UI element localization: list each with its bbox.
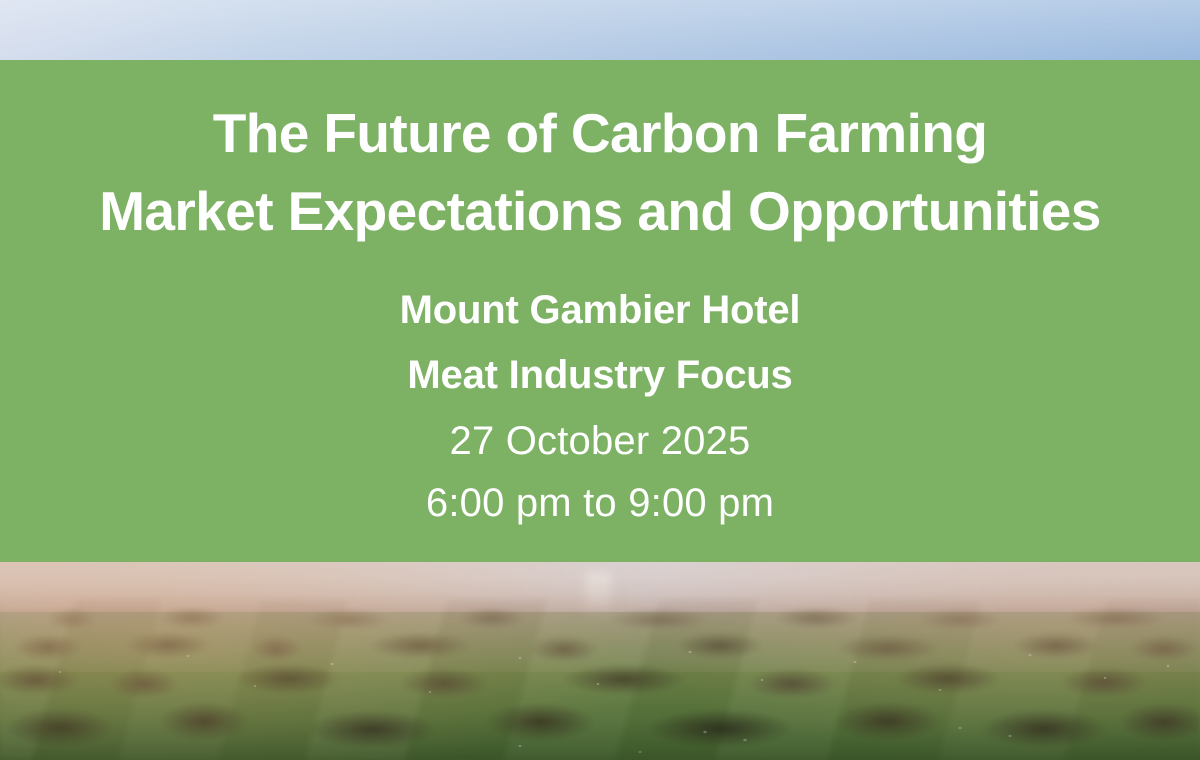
event-title-line-2: Market Expectations and Opportunities <box>0 172 1200 250</box>
event-schedule: 27 October 2025 6:00 pm to 9:00 pm <box>0 408 1200 534</box>
event-venue-name: Mount Gambier Hotel <box>0 278 1200 343</box>
event-title: The Future of Carbon Farming Market Expe… <box>0 94 1200 250</box>
event-banner: The Future of Carbon Farming Market Expe… <box>0 0 1200 760</box>
event-title-line-1: The Future of Carbon Farming <box>0 94 1200 172</box>
event-time: 6:00 pm to 9:00 pm <box>0 472 1200 534</box>
event-venue-focus: Meat Industry Focus <box>0 343 1200 408</box>
event-date: 27 October 2025 <box>0 410 1200 472</box>
event-venue: Mount Gambier Hotel Meat Industry Focus <box>0 250 1200 408</box>
foreground-pasture-region <box>0 672 1200 760</box>
green-overlay-band: The Future of Carbon Farming Market Expe… <box>0 60 1200 562</box>
